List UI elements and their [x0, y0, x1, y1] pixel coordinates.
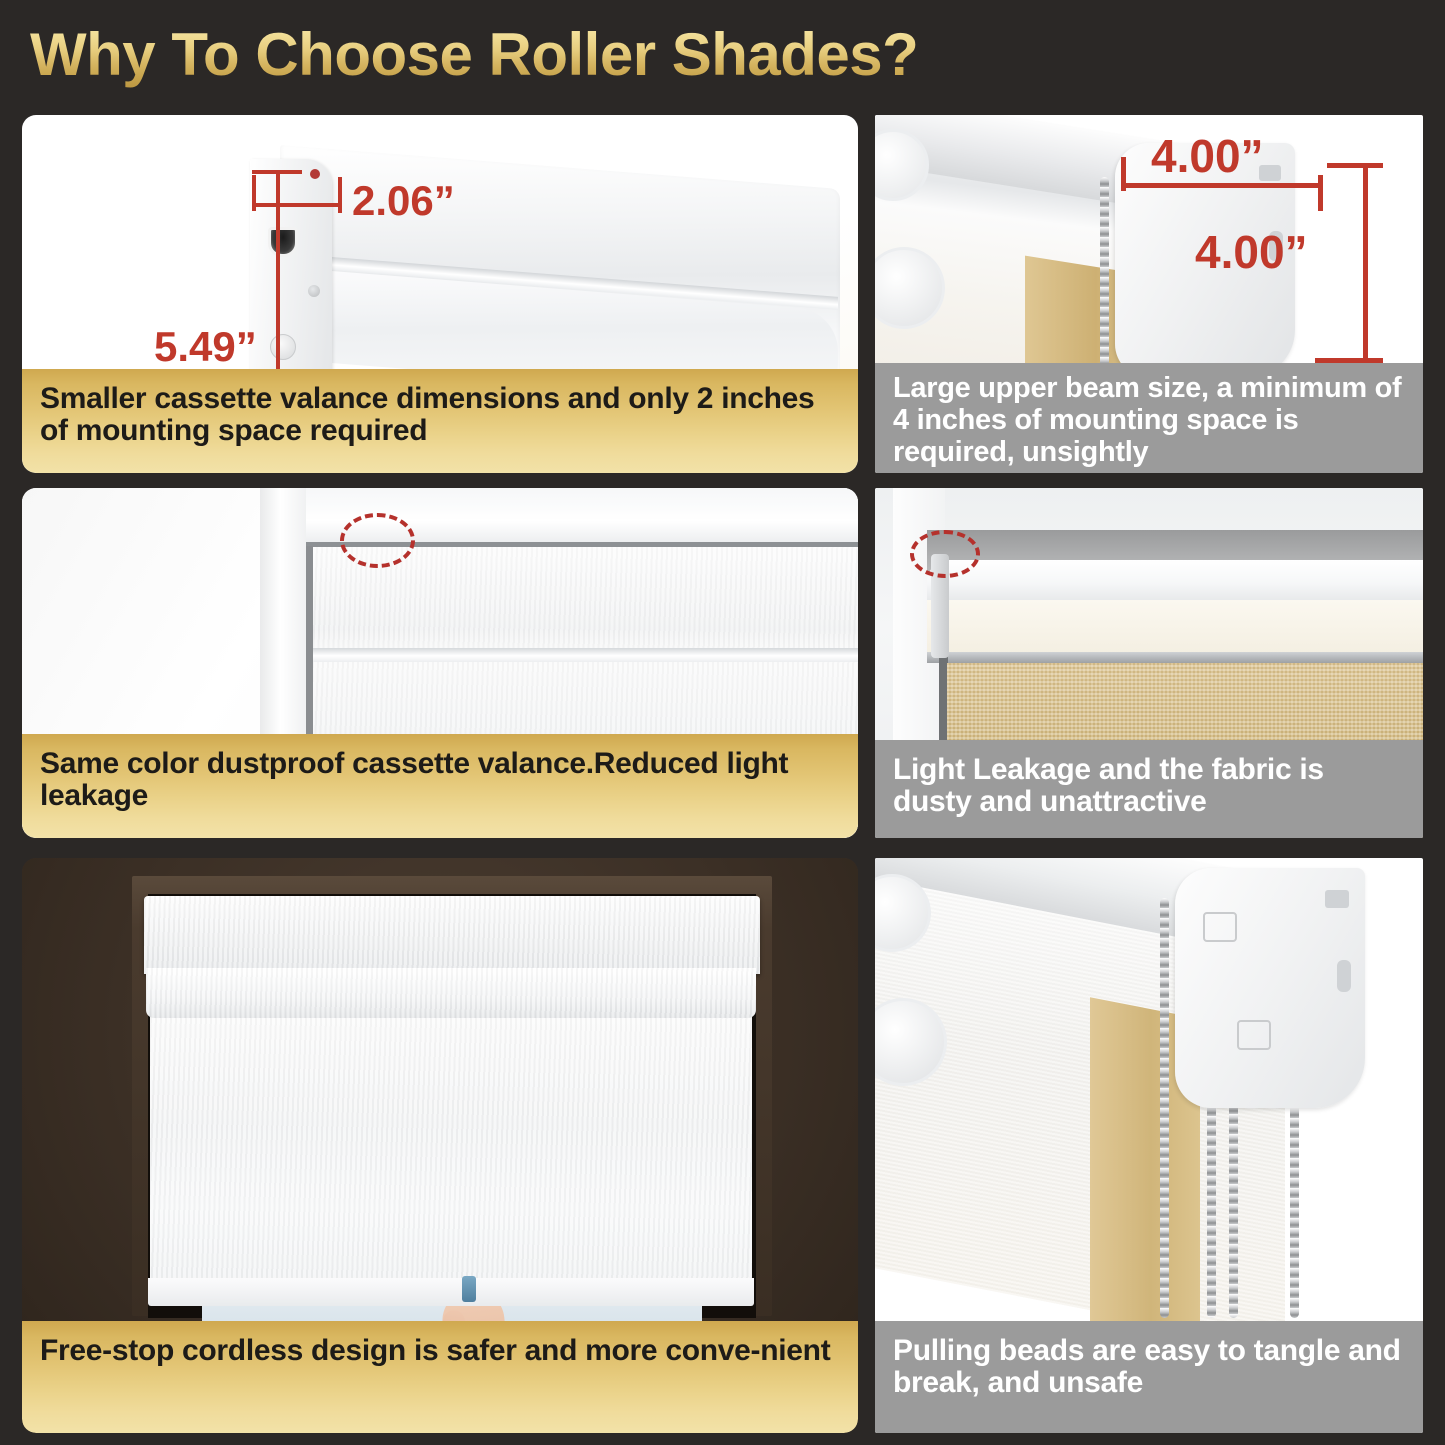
panel-caption-pulling-beads-unsafe: Pulling beads are easy to tangle and bre…: [875, 1321, 1423, 1433]
bracket-screw-upper: [308, 285, 320, 297]
bead-chain-left: [1160, 898, 1169, 1318]
cassette-valance-photo: 2.06” 5.49” Smaller cassette valance dim…: [22, 115, 858, 473]
cordless-room-photo: Free-stop cordless design is safer and m…: [22, 858, 858, 1433]
highlight-circle-icon: [910, 530, 980, 578]
panel-large-upper-beam: 4.00” 4.00” Large upper beam size, a min…: [875, 115, 1423, 473]
bracket-arrow-icon-upper: [1203, 912, 1237, 942]
beam-dim-height-line: [1363, 163, 1368, 363]
shade-bottom-bar: [148, 1278, 754, 1306]
dim-height-tick-top: [252, 170, 302, 174]
comparison-grid: 2.06” 5.49” Smaller cassette valance dim…: [0, 0, 1445, 1445]
bracket-screw-lower: [270, 334, 296, 360]
large-beam-photo: 4.00” 4.00” Large upper beam size, a min…: [875, 115, 1423, 473]
shade-cassette-lower: [146, 968, 756, 1018]
shade-pull-tab: [462, 1276, 476, 1302]
panel-caption-dustproof-cassette-valance: Same color dustproof cassette valance.Re…: [22, 734, 858, 838]
panel-caption-light-leakage-dusty-fabric: Light Leakage and the fabric is dusty an…: [875, 740, 1423, 838]
bracket-notch-top: [1325, 890, 1349, 908]
beam-dim-height-tick-top: [1327, 163, 1383, 168]
beam-dim-height-label: 4.00”: [1195, 225, 1308, 279]
dim-width-line: [254, 203, 342, 207]
valance-end-bracket: [250, 159, 332, 394]
panel-caption-large-upper-beam: Large upper beam size, a minimum of 4 in…: [875, 363, 1423, 473]
beam-dim-width-line: [1123, 183, 1323, 188]
shade-cassette-head: [144, 896, 760, 974]
highlight-circle-icon: [340, 513, 415, 568]
dim-width-tick-left: [252, 175, 256, 211]
dim-width-label: 2.06”: [352, 177, 455, 225]
beam-dim-width-label: 4.00”: [1151, 129, 1264, 183]
light-leakage-photo: Large gap Light Leakage and the fabric i…: [875, 488, 1423, 838]
leakage-rail: [927, 652, 1423, 663]
bracket-red-pin: [310, 169, 320, 179]
beam-dim-width-tick-left: [1121, 157, 1126, 191]
panel-pulling-beads-unsafe: Pulling beads are easy to tangle and bre…: [875, 858, 1423, 1433]
pulling-beads-photo: Pulling beads are easy to tangle and bre…: [875, 858, 1423, 1433]
dustproof-valance-photo: smaller gap Same color dustproof cassett…: [22, 488, 858, 838]
beam-dim-width-tick-right: [1318, 175, 1323, 211]
panel-caption-cassette-valance-dimensions: Smaller cassette valance dimensions and …: [22, 369, 858, 473]
dim-width-tick-right: [338, 177, 342, 213]
panel-caption-free-stop-cordless-design: Free-stop cordless design is safer and m…: [22, 1321, 858, 1433]
panel-dustproof-cassette-valance: smaller gap Same color dustproof cassett…: [22, 488, 858, 838]
panel-cassette-valance-dimensions: 2.06” 5.49” Smaller cassette valance dim…: [22, 115, 858, 473]
bracket-notch-mid: [1337, 960, 1351, 992]
panel-free-stop-cordless-design: Free-stop cordless design is safer and m…: [22, 858, 858, 1433]
shade-mid-band: [306, 648, 858, 662]
bracket-slot: [268, 227, 298, 257]
roller-shade-fabric: [150, 1016, 752, 1291]
panel-light-leakage-dusty-fabric: Large gap Light Leakage and the fabric i…: [875, 488, 1423, 838]
beads-mounting-bracket: [1175, 868, 1365, 1108]
bracket-arrow-icon-lower: [1237, 1020, 1271, 1050]
dim-height-label: 5.49”: [154, 323, 257, 371]
leakage-valance-lower: [927, 600, 1423, 654]
bead-chain-left: [1100, 177, 1109, 377]
